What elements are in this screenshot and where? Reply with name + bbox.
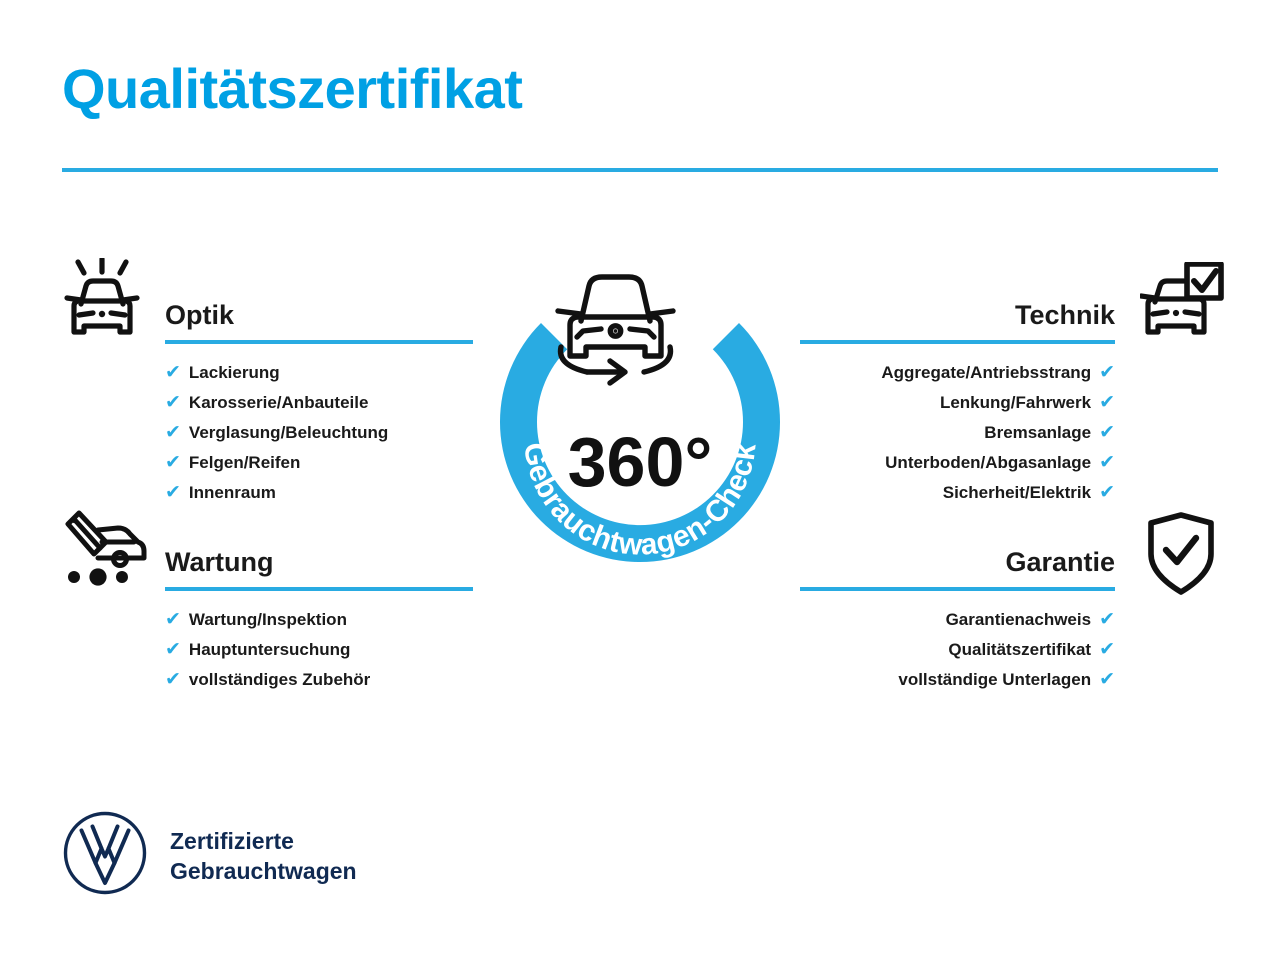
section-technik-header: Technik: [800, 298, 1115, 344]
page-title: Qualitätszertifikat: [62, 58, 522, 120]
section-optik-header: Optik: [165, 298, 473, 344]
check-icon: ✔: [1099, 358, 1115, 388]
list-item: ✔vollständiges Zubehör: [165, 665, 473, 695]
section-optik: Optik ✔Lackierung ✔Karosserie/Anbauteile…: [165, 298, 473, 508]
list-item: Qualitätszertifikat✔: [800, 635, 1115, 665]
list-item: ✔Karosserie/Anbauteile: [165, 388, 473, 418]
section-optik-divider: [165, 340, 473, 344]
list-item: ✔Innenraum: [165, 478, 473, 508]
section-technik-list: Aggregate/Antriebsstrang✔ Lenkung/Fahrwe…: [800, 358, 1115, 508]
check-icon: ✔: [165, 665, 181, 695]
list-item-label: Aggregate/Antriebsstrang: [881, 358, 1091, 388]
list-item-label: Bremsanlage: [984, 418, 1091, 448]
check-icon: ✔: [1099, 665, 1115, 695]
section-wartung-title: Wartung: [165, 545, 473, 579]
list-item: vollständige Unterlagen✔: [800, 665, 1115, 695]
section-garantie-divider: [800, 587, 1115, 591]
check-icon: ✔: [165, 448, 181, 478]
section-technik-title: Technik: [800, 298, 1115, 332]
check-icon: ✔: [1099, 635, 1115, 665]
list-item-label: Wartung/Inspektion: [189, 605, 347, 635]
badge-360-gebrauchtwagen-check: Gebrauchtwagen-Check 360°: [465, 243, 815, 633]
car-front-rotate-icon: [558, 277, 673, 383]
list-item: ✔Hauptuntersuchung: [165, 635, 473, 665]
list-item-label: Karosserie/Anbauteile: [189, 388, 369, 418]
check-icon: ✔: [1099, 478, 1115, 508]
check-icon: ✔: [1099, 418, 1115, 448]
list-item-label: Felgen/Reifen: [189, 448, 300, 478]
list-item: ✔Lackierung: [165, 358, 473, 388]
footer-line-2: Gebrauchtwagen: [170, 856, 357, 886]
list-item-label: vollständige Unterlagen: [898, 665, 1091, 695]
list-item: Bremsanlage✔: [800, 418, 1115, 448]
title-divider: [62, 168, 1218, 172]
section-wartung-list: ✔Wartung/Inspektion ✔Hauptuntersuchung ✔…: [165, 605, 473, 695]
section-wartung-divider: [165, 587, 473, 591]
list-item-label: Lenkung/Fahrwerk: [940, 388, 1091, 418]
list-item: Lenkung/Fahrwerk✔: [800, 388, 1115, 418]
list-item: Aggregate/Antriebsstrang✔: [800, 358, 1115, 388]
check-icon: ✔: [1099, 605, 1115, 635]
car-front-checkbox-icon: [1140, 262, 1224, 351]
section-garantie-title: Garantie: [800, 545, 1115, 579]
check-icon: ✔: [165, 358, 181, 388]
vw-logo: [62, 810, 148, 901]
check-icon: ✔: [165, 605, 181, 635]
list-item: ✔Wartung/Inspektion: [165, 605, 473, 635]
check-icon: ✔: [165, 388, 181, 418]
list-item: ✔Verglasung/Beleuchtung: [165, 418, 473, 448]
car-front-shine-icon: [62, 258, 142, 351]
check-icon: ✔: [1099, 448, 1115, 478]
list-item-label: Innenraum: [189, 478, 276, 508]
list-item: ✔Felgen/Reifen: [165, 448, 473, 478]
footer-text: Zertifizierte Gebrauchtwagen: [170, 826, 357, 886]
list-item: Sicherheit/Elektrik✔: [800, 478, 1115, 508]
section-technik-divider: [800, 340, 1115, 344]
section-garantie: Garantie Garantienachweis✔ Qualitätszert…: [800, 545, 1115, 695]
list-item-label: vollständiges Zubehör: [189, 665, 370, 695]
footer-line-1: Zertifizierte: [170, 826, 357, 856]
car-service-pencil-icon: [58, 508, 150, 593]
section-wartung-header: Wartung: [165, 545, 473, 591]
section-garantie-list: Garantienachweis✔ Qualitätszertifikat✔ v…: [800, 605, 1115, 695]
list-item-label: Hauptuntersuchung: [189, 635, 351, 665]
check-icon: ✔: [165, 635, 181, 665]
list-item: Unterboden/Abgasanlage✔: [800, 448, 1115, 478]
section-garantie-header: Garantie: [800, 545, 1115, 591]
vw-certified-lockup: Zertifizierte Gebrauchtwagen: [62, 810, 357, 901]
section-technik: Technik Aggregate/Antriebsstrang✔ Lenkun…: [800, 298, 1115, 508]
list-item-label: Garantienachweis: [946, 605, 1092, 635]
list-item-label: Sicherheit/Elektrik: [943, 478, 1091, 508]
section-optik-title: Optik: [165, 298, 473, 332]
list-item: Garantienachweis✔: [800, 605, 1115, 635]
shield-check-icon: [1145, 512, 1217, 601]
list-item-label: Verglasung/Beleuchtung: [189, 418, 388, 448]
section-optik-list: ✔Lackierung ✔Karosserie/Anbauteile ✔Verg…: [165, 358, 473, 508]
check-icon: ✔: [165, 418, 181, 448]
list-item-label: Lackierung: [189, 358, 280, 388]
list-item-label: Qualitätszertifikat: [948, 635, 1091, 665]
list-item-label: Unterboden/Abgasanlage: [885, 448, 1091, 478]
badge-center-text: 360°: [568, 423, 713, 501]
check-icon: ✔: [165, 478, 181, 508]
check-icon: ✔: [1099, 388, 1115, 418]
section-wartung: Wartung ✔Wartung/Inspektion ✔Hauptunters…: [165, 545, 473, 695]
